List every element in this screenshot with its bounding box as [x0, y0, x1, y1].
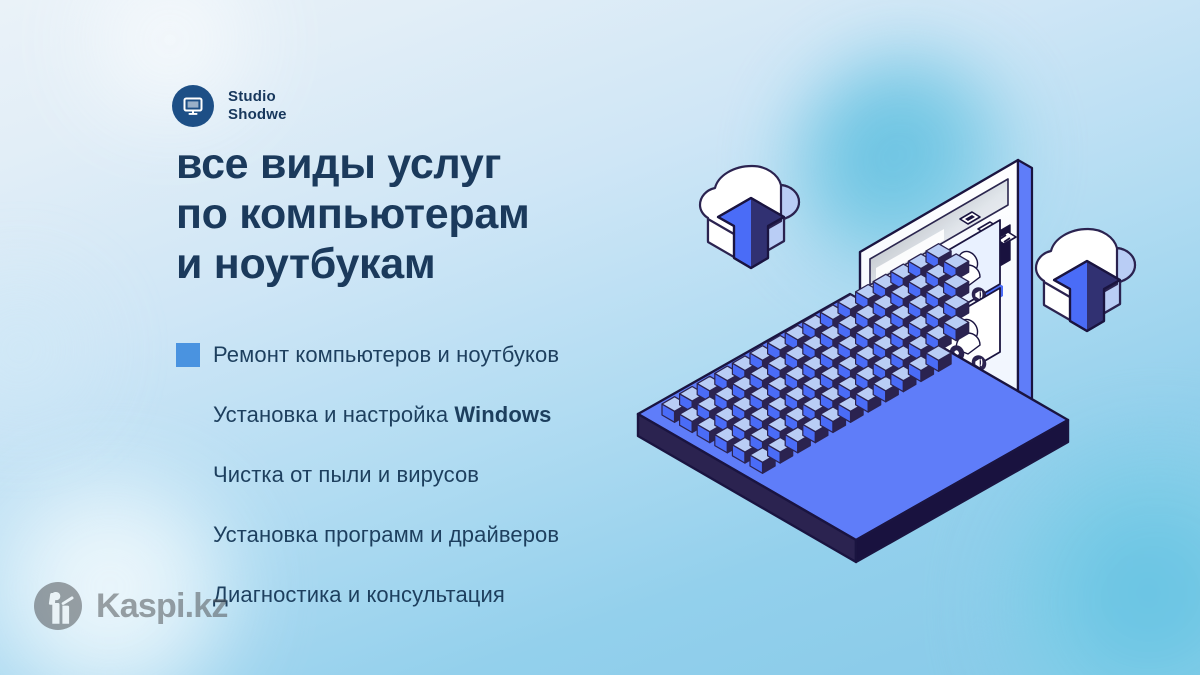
headline-line-1: все виды услуг	[176, 140, 696, 190]
service-bullet-spacer	[176, 463, 200, 487]
cloud-upload-left	[700, 166, 799, 268]
service-label: Ремонт компьютеров и ноутбуков	[213, 342, 559, 368]
brand-name: Studio Shodwe	[228, 88, 287, 123]
service-bullet-spacer	[176, 403, 200, 427]
service-item[interactable]: Установка программ и драйверов	[176, 505, 696, 565]
kaspi-wordmark: Kaspi.kz	[96, 587, 228, 626]
headline-line-2: по компьютерам	[176, 190, 696, 240]
kaspi-watermark: Kaspi.kz	[32, 580, 228, 632]
service-label: Чистка от пыли и вирусов	[213, 462, 479, 488]
brand-logo: Studio Shodwe	[172, 85, 287, 127]
decorative-blob-left	[0, 250, 110, 450]
service-item[interactable]: Чистка от пыли и вирусов	[176, 445, 696, 505]
page-title: все виды услуг по компьютерам и ноутбука…	[176, 140, 696, 290]
cloud-upload-right	[1036, 229, 1135, 331]
monitor-icon	[172, 85, 214, 127]
headline-line-3: и ноутбукам	[176, 240, 696, 290]
service-label: Установка программ и драйверов	[213, 522, 559, 548]
kaspi-logo-icon	[32, 580, 84, 632]
service-item[interactable]: Ремонт компьютеров и ноутбуков	[176, 325, 696, 385]
service-label: Установка и настройка Windows	[213, 402, 551, 428]
service-bullet-icon	[176, 343, 200, 367]
service-bullet-spacer	[176, 523, 200, 547]
brand-name-line2: Shodwe	[228, 106, 287, 124]
service-label: Диагностика и консультация	[213, 582, 505, 608]
service-item[interactable]: Диагностика и консультация	[176, 565, 696, 625]
service-label-emphasis: Windows	[454, 402, 551, 427]
isometric-illustration	[620, 120, 1200, 640]
service-item[interactable]: Установка и настройка Windows	[176, 385, 696, 445]
poster-canvas: Studio Shodwe все виды услуг по компьюте…	[0, 0, 1200, 675]
services-list: Ремонт компьютеров и ноутбуковУстановка …	[176, 325, 696, 625]
brand-name-line1: Studio	[228, 88, 287, 106]
